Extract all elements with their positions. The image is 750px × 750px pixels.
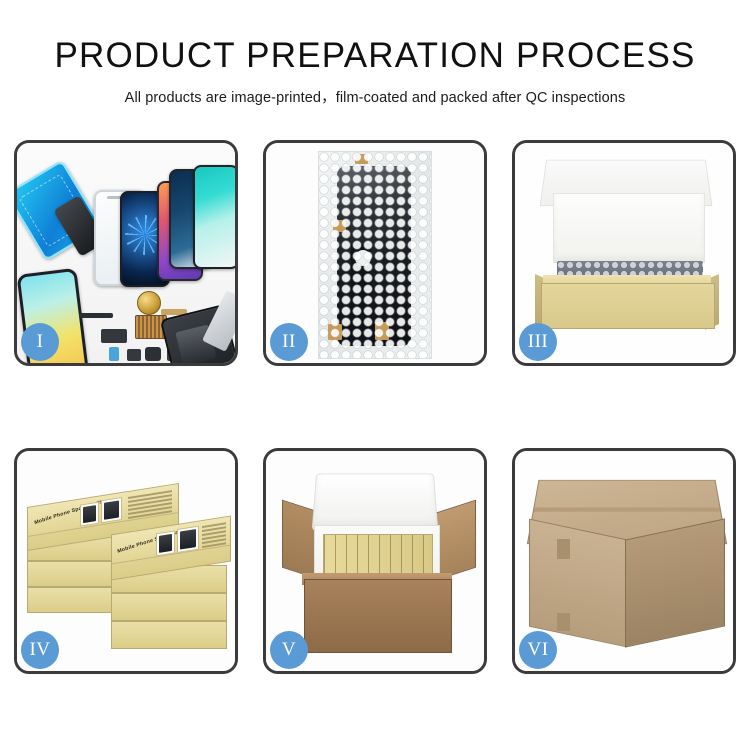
- camera-module-part: [101, 329, 127, 343]
- step-badge-6: VI: [519, 631, 557, 669]
- process-step-grid: I II: [14, 140, 736, 674]
- box-window-front-2: [177, 526, 199, 553]
- vibrator-motor-part: [137, 291, 161, 315]
- step-badge-5: V: [270, 631, 308, 669]
- foam-box-lid: [312, 473, 439, 530]
- carton-tape-lower: [557, 613, 570, 631]
- carton-tape-upper: [557, 539, 570, 559]
- earpiece-speaker-part: [79, 313, 113, 318]
- phone-teal-display: [193, 165, 235, 269]
- carton-left-face: [529, 519, 627, 648]
- process-step-panel-1: I: [14, 140, 238, 366]
- header: PRODUCT PREPARATION PROCESS All products…: [0, 0, 750, 107]
- process-step-panel-4: Mobile Phone Spare Parts Mobile Phone Sp…: [14, 448, 238, 674]
- loudspeaker-part: [145, 347, 161, 361]
- stacked-box-fr-2: [111, 593, 227, 621]
- process-step-panel-6: VI: [512, 448, 736, 674]
- bubble-texture: [319, 152, 431, 358]
- page-subtitle: All products are image-printed，film-coat…: [0, 86, 750, 107]
- stacked-box-fr-3: [111, 621, 227, 649]
- white-foam-sheet: [553, 193, 705, 263]
- box-window-back-1: [80, 502, 99, 527]
- box-window-front-1: [156, 530, 175, 556]
- process-step-panel-2: II: [263, 140, 487, 366]
- box-front-face: [541, 283, 715, 329]
- box-window-back-2: [101, 497, 122, 523]
- page-title: PRODUCT PREPARATION PROCESS: [0, 38, 750, 73]
- step-badge-1: I: [21, 323, 59, 361]
- step-badge-2: II: [270, 323, 308, 361]
- sim-tray-part: [109, 347, 119, 361]
- retail-box-stack: Mobile Phone Spare Parts Mobile Phone Sp…: [25, 469, 233, 657]
- process-step-panel-5: V: [263, 448, 487, 674]
- step-badge-3: III: [519, 323, 557, 361]
- process-step-panel-3: III: [512, 140, 736, 366]
- carton-right-face: [625, 518, 725, 647]
- carton-front-face: [304, 579, 452, 653]
- box-spec-lines-front: [202, 522, 226, 550]
- step-badge-4: IV: [21, 631, 59, 669]
- bubble-wrap-bag: [318, 151, 432, 359]
- button-part: [127, 349, 141, 361]
